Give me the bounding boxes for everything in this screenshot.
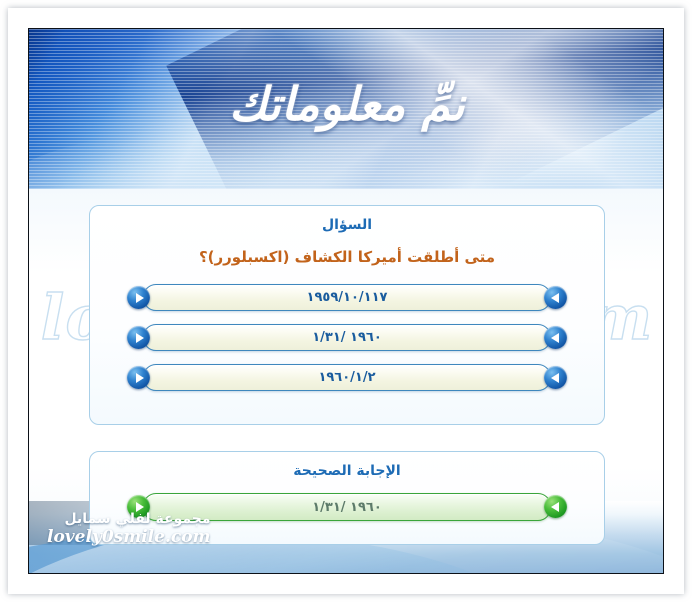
question-text: متى أطلقت أميركا الكشاف (اكسبلورر)؟ (90, 233, 604, 266)
triangle-right-glyph (136, 373, 144, 383)
answer-panel-title: الإجابة الصحيحة (90, 452, 604, 479)
question-panel-title: السؤال (90, 206, 604, 233)
play-left-icon[interactable] (544, 286, 567, 309)
site-logo: نمِّ معلوماتك (29, 77, 664, 131)
footer-url: lovely0smile.com (47, 528, 211, 548)
slide-canvas: نمِّ معلوماتك lovely0smile.com السؤال مت… (28, 28, 664, 574)
option-label: ١٩٦٠/١/٢ (318, 370, 375, 385)
play-left-icon (544, 495, 567, 518)
correct-answer-label: ١٩٦٠ /١/٣١ (312, 500, 382, 515)
play-right-icon[interactable] (127, 326, 150, 349)
triangle-right-glyph (136, 293, 144, 303)
play-right-icon[interactable] (127, 286, 150, 309)
window-frame: نمِّ معلوماتك lovely0smile.com السؤال مت… (8, 8, 684, 594)
option-row[interactable]: ١٩٦٠ /١/٣١ (127, 324, 567, 351)
option-bar[interactable]: ١٩٦٠ /١/٣١ (143, 324, 551, 351)
option-row[interactable]: ١٩٦٠/١/٢ (127, 364, 567, 391)
triangle-left-glyph (551, 373, 559, 383)
header-banner: نمِّ معلوماتك (29, 29, 664, 189)
option-label: ١٩٥٩/١٠/١١٧ (307, 290, 388, 305)
play-left-icon[interactable] (544, 366, 567, 389)
question-panel: السؤال متى أطلقت أميركا الكشاف (اكسبلورر… (89, 205, 605, 425)
options-list: ١٩٥٩/١٠/١١٧ ١٩٦٠ /١/٣١ (90, 284, 604, 391)
option-label: ١٩٦٠ /١/٣١ (312, 330, 382, 345)
triangle-right-glyph (136, 502, 144, 512)
footer-group-name: مجموعة لفلي سمايل (47, 511, 211, 527)
play-left-icon[interactable] (544, 326, 567, 349)
option-bar[interactable]: ١٩٥٩/١٠/١١٧ (143, 284, 551, 311)
triangle-left-glyph (551, 333, 559, 343)
triangle-left-glyph (551, 502, 559, 512)
footer-credit: مجموعة لفلي سمايل lovely0smile.com (47, 511, 211, 548)
option-bar[interactable]: ١٩٦٠/١/٢ (143, 364, 551, 391)
triangle-left-glyph (551, 293, 559, 303)
play-right-icon[interactable] (127, 366, 150, 389)
option-row[interactable]: ١٩٥٩/١٠/١١٧ (127, 284, 567, 311)
triangle-right-glyph (136, 333, 144, 343)
